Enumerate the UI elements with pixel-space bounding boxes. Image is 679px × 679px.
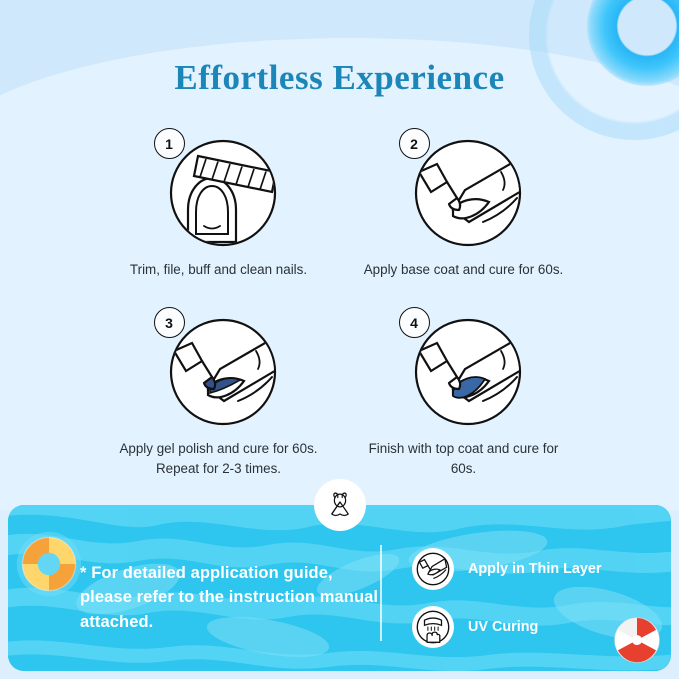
banner-divider <box>380 545 382 641</box>
step-item: 4 <box>341 307 586 478</box>
step-item: 1 <box>96 128 341 279</box>
feature-label: Apply in Thin Layer <box>468 561 602 577</box>
gel-polish-brush-icon <box>168 317 278 427</box>
feature-item: Apply in Thin Layer <box>412 545 602 593</box>
step-artwork: 3 <box>154 307 284 429</box>
feature-label: UV Curing <box>468 619 538 635</box>
banner-note: * For detailed application guide, please… <box>80 561 380 634</box>
step-item: 2 <box>341 128 586 279</box>
top-coat-brush-icon <box>413 317 523 427</box>
feature-list: Apply in Thin Layer <box>412 545 602 661</box>
feature-item: UV Curing <box>412 603 602 651</box>
poster-canvas: Effortless Experience 1 <box>0 0 679 679</box>
step-number-badge: 3 <box>154 307 185 338</box>
page-title: Effortless Experience <box>0 58 679 98</box>
steps-grid: 1 <box>96 128 586 478</box>
uv-lamp-icon <box>412 606 454 648</box>
step-item: 3 <box>96 307 341 478</box>
step-artwork: 2 <box>399 128 529 250</box>
step-artwork: 1 <box>154 128 284 250</box>
step-caption: Apply base coat and cure for 60s. <box>356 260 571 279</box>
step-artwork: 4 <box>399 307 529 429</box>
thin-layer-brush-icon <box>412 548 454 590</box>
base-coat-brush-icon <box>413 138 523 248</box>
step-number-badge: 4 <box>399 307 430 338</box>
step-number-badge: 1 <box>154 128 185 159</box>
step-number-badge: 2 <box>399 128 430 159</box>
step-caption: Finish with top coat and cure for 60s. <box>356 439 571 478</box>
step-caption: Apply gel polish and cure for 60s. Repea… <box>111 439 326 478</box>
life-ring-icon <box>14 529 84 599</box>
nail-file-icon <box>168 138 278 248</box>
beach-ball-icon <box>609 611 665 667</box>
step-caption: Trim, file, buff and clean nails. <box>111 260 326 279</box>
brand-monogram-icon <box>314 479 366 531</box>
